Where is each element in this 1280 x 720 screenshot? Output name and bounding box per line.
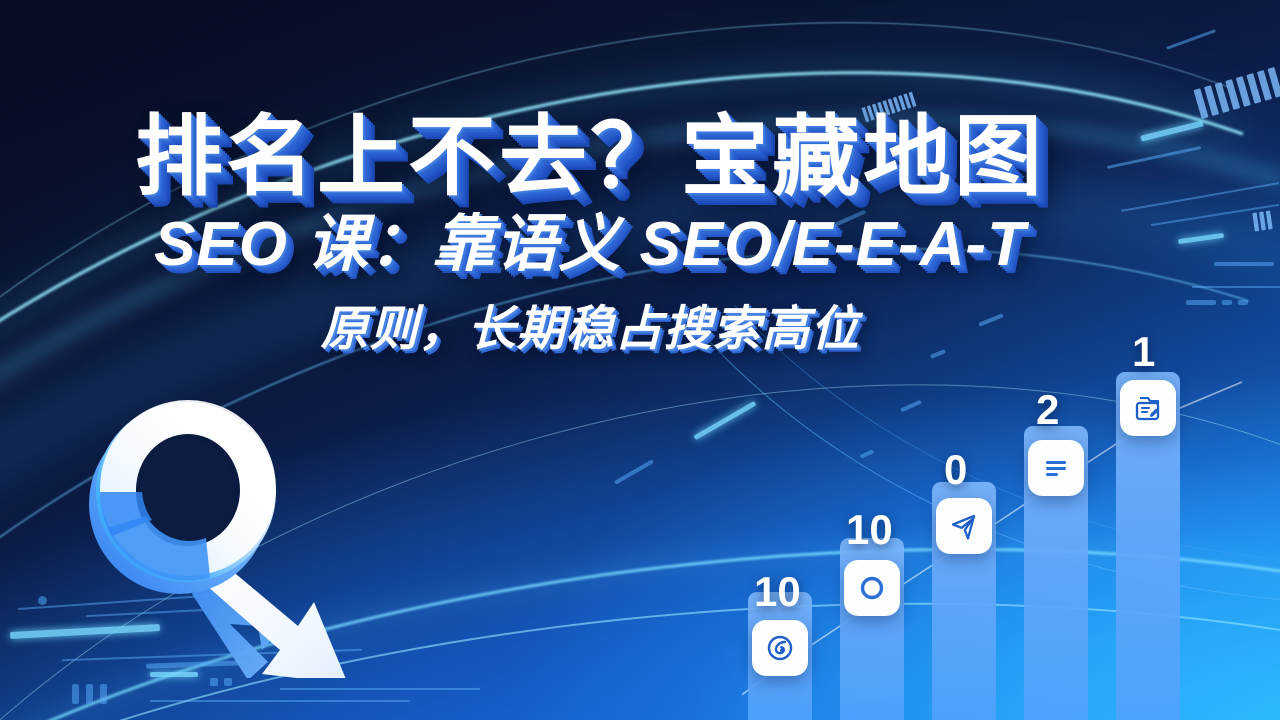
magnifier-arrow-icon (62, 388, 392, 678)
hud-line-8 (280, 688, 480, 690)
hud-dash-20 (86, 684, 93, 704)
bar-value-4: 2 (1036, 386, 1059, 434)
document-lines-glyph (1040, 452, 1072, 484)
ring-circle-icon (844, 560, 900, 616)
headline-primary: 排名上不去？宝藏地图 (0, 112, 1180, 202)
hud-dash-6 (1186, 300, 1216, 305)
document-lines-icon (1028, 440, 1084, 496)
hud-line-7 (150, 700, 410, 702)
headline-tertiary: 原则，长期稳占搜索高位 (0, 289, 1180, 359)
paper-plane-icon (936, 498, 992, 554)
hud-tick-bar-top (1193, 67, 1280, 119)
hud-line-3 (1192, 286, 1280, 288)
hud-dash-8 (1238, 300, 1248, 305)
cover-canvas: 排名上不去？宝藏地图 SEO 课：靠语义 SEO/E-E-A-T 原则，长期稳占… (0, 0, 1280, 720)
bar-chart: 10 10 0 2 1 (742, 330, 1242, 720)
hud-dash-5 (1214, 262, 1274, 266)
hud-dash-14 (614, 459, 654, 484)
hud-dash-19 (72, 684, 79, 704)
hud-dash-22 (38, 596, 47, 605)
title-block: 排名上不去？宝藏地图 SEO 课：靠语义 SEO/E-E-A-T 原则，长期稳占… (0, 112, 1180, 359)
circle-swirl-icon (752, 620, 808, 676)
folder-edit-glyph (1132, 392, 1164, 424)
folder-edit-icon (1120, 380, 1176, 436)
headline-secondary: SEO 课：靠语义 SEO/E-E-A-T (0, 212, 1180, 277)
hud-dash-7 (1222, 300, 1232, 305)
paper-plane-glyph (948, 510, 980, 542)
hud-tick-bar-right (1252, 211, 1272, 232)
hud-dash-3 (1166, 29, 1216, 50)
ring-circle-glyph (856, 572, 888, 604)
bar-value-2: 10 (846, 506, 893, 554)
bar-value-3: 0 (944, 446, 967, 494)
bar-value-1: 10 (754, 568, 801, 616)
hud-dash-24 (210, 678, 218, 686)
hud-dash-25 (224, 678, 232, 686)
circle-swirl-glyph (764, 632, 796, 664)
hud-dash-4 (1178, 233, 1224, 244)
hud-dash-21 (100, 684, 107, 704)
